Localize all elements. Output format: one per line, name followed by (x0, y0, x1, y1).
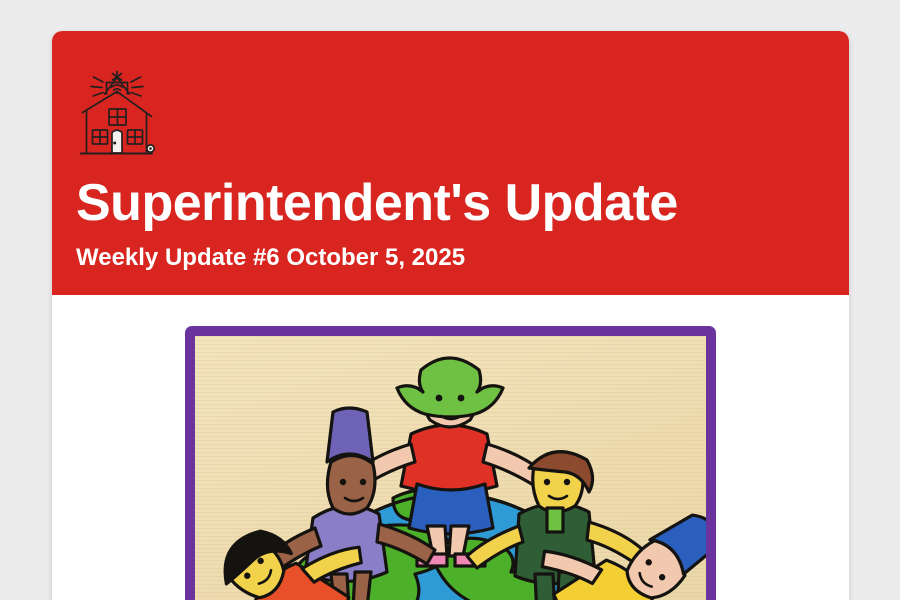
schoolhouse-wifi-logo (76, 58, 158, 162)
newsletter-card: Superintendent's Update Weekly Update #6… (52, 31, 849, 600)
feature-image-frame: Crayon drawing of children of many cultu… (185, 326, 716, 600)
children-around-the-world-drawing: Crayon drawing of children of many cultu… (195, 336, 706, 600)
newsletter-page: Superintendent's Update Weekly Update #6… (0, 0, 900, 600)
issue-subtitle: Weekly Update #6 October 5, 2025 (76, 244, 825, 273)
header-banner: Superintendent's Update Weekly Update #6… (52, 31, 849, 295)
newsletter-body: Crayon drawing of children of many cultu… (52, 295, 849, 600)
page-title: Superintendent's Update (76, 176, 825, 230)
